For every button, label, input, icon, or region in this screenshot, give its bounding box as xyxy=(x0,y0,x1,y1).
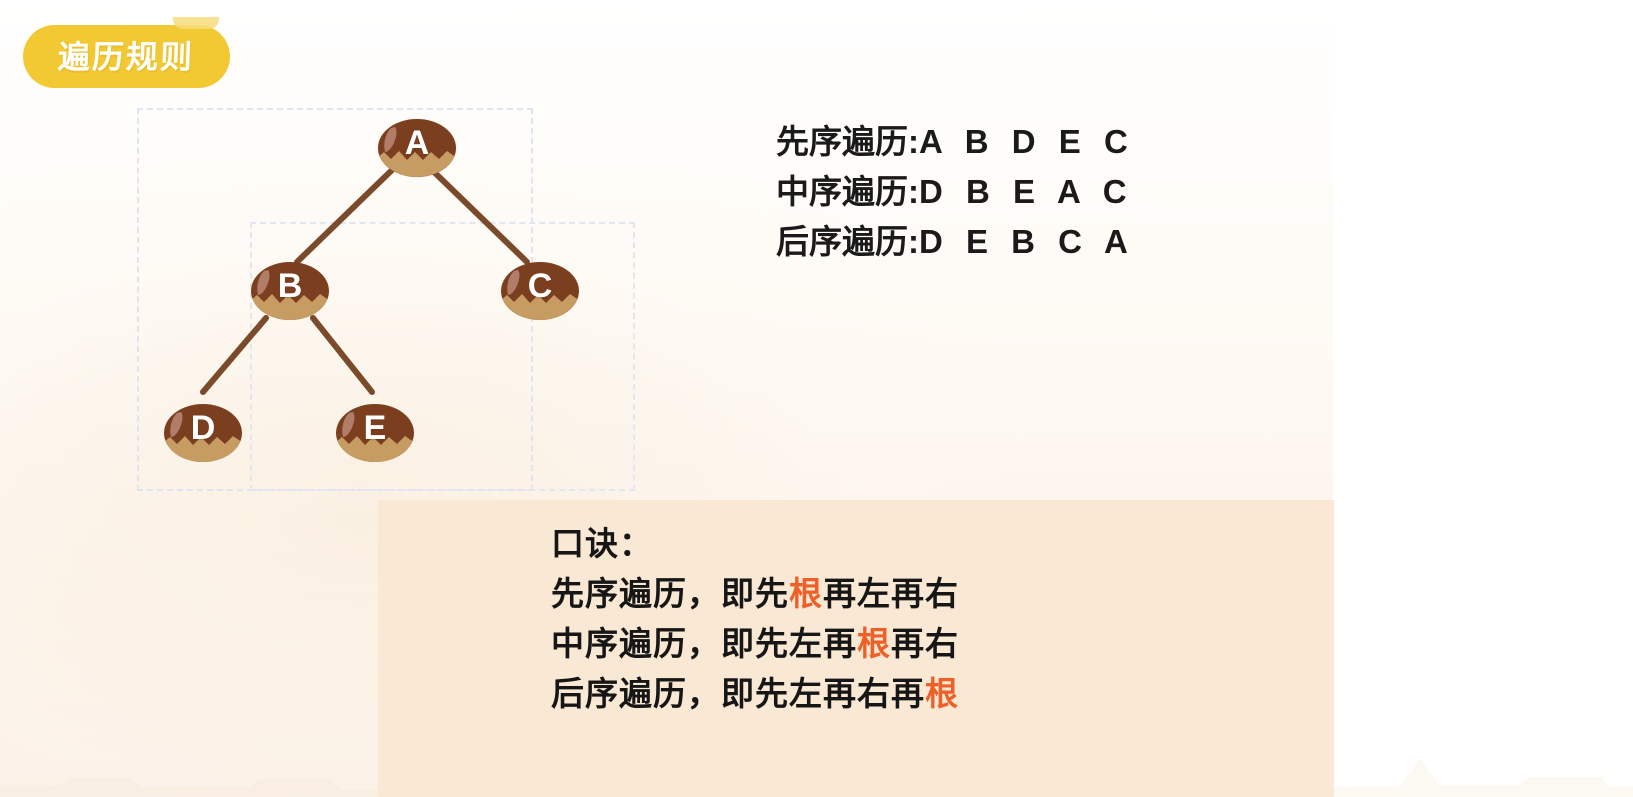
tree-node-e-label: E xyxy=(335,397,415,463)
mnemonic-line-inorder-before: 中序遍历，即先左再 xyxy=(551,625,857,662)
inorder-traversal-line: 中序遍历:D B E A C xyxy=(776,167,1135,217)
tree-node-c-label: C xyxy=(500,255,580,321)
postorder-sequence: D E B C A xyxy=(919,223,1135,260)
mnemonic-content: 口诀： 先序遍历，即先根再左再右 中序遍历，即先左再根再右 后序遍历，即先左再右… xyxy=(551,519,959,719)
mnemonic-panel: 口诀： 先序遍历，即先根再左再右 中序遍历，即先左再根再右 后序遍历，即先左再右… xyxy=(378,500,1334,797)
postorder-label: 后序遍历: xyxy=(776,223,919,260)
tree-node-e[interactable]: E xyxy=(335,397,415,463)
inorder-sequence: D B E A C xyxy=(919,173,1134,210)
tree-node-c[interactable]: C xyxy=(500,255,580,321)
mnemonic-title: 口诀： xyxy=(551,519,959,569)
preorder-label: 先序遍历: xyxy=(776,123,919,160)
mnemonic-line-inorder-highlight: 根 xyxy=(857,625,891,662)
mnemonic-line-preorder-before: 先序遍历，即先 xyxy=(551,575,789,612)
tree-node-a-label: A xyxy=(377,112,457,178)
edge-a-b xyxy=(297,170,392,262)
tree-node-b[interactable]: B xyxy=(250,255,330,321)
edge-b-d xyxy=(203,318,266,392)
slide-canvas: 遍历规则 xyxy=(0,0,1633,797)
tree-node-d[interactable]: D xyxy=(163,397,243,463)
inorder-label: 中序遍历: xyxy=(776,173,919,210)
edge-a-c xyxy=(432,170,527,262)
mnemonic-line-preorder: 先序遍历，即先根再左再右 xyxy=(551,569,959,619)
mnemonic-line-postorder: 后序遍历，即先左再右再根 xyxy=(551,669,959,719)
binary-tree-diagram: A B xyxy=(0,0,700,500)
traversal-results-list: 先序遍历:A B D E C 中序遍历:D B E A C 后序遍历:D E B… xyxy=(776,117,1135,267)
preorder-sequence: A B D E C xyxy=(919,123,1135,160)
tree-node-b-label: B xyxy=(250,255,330,321)
background-right-panel xyxy=(1333,0,1633,797)
tree-node-d-label: D xyxy=(163,397,243,463)
mnemonic-line-inorder-after: 再右 xyxy=(891,625,959,662)
mnemonic-line-postorder-before: 后序遍历，即先左再右再 xyxy=(551,675,925,712)
preorder-traversal-line: 先序遍历:A B D E C xyxy=(776,117,1135,167)
mnemonic-line-preorder-after: 再左再右 xyxy=(823,575,959,612)
mnemonic-line-inorder: 中序遍历，即先左再根再右 xyxy=(551,619,959,669)
tree-node-a[interactable]: A xyxy=(377,112,457,178)
postorder-traversal-line: 后序遍历:D E B C A xyxy=(776,217,1135,267)
edge-b-e xyxy=(313,318,372,392)
mnemonic-line-preorder-highlight: 根 xyxy=(789,575,823,612)
mnemonic-line-postorder-highlight: 根 xyxy=(925,675,959,712)
